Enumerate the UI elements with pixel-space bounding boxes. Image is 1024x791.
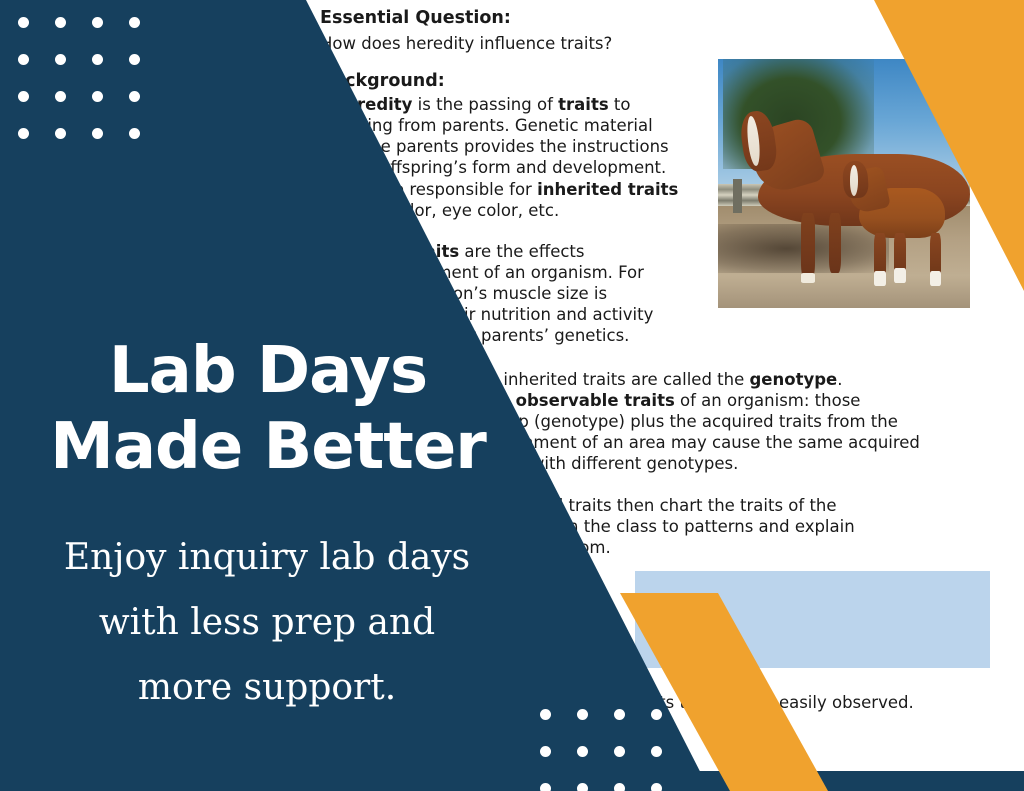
dot [577, 746, 588, 757]
dot [651, 783, 662, 791]
dot [540, 783, 551, 791]
dot [129, 128, 140, 139]
promotional-graphic: Essential Question: How does heredity in… [0, 0, 1024, 791]
dot [18, 91, 29, 102]
essential-question-heading: Essential Question: [320, 8, 511, 29]
dot-pattern-top-left [18, 17, 166, 165]
dot [92, 128, 103, 139]
promo-headline: Lab Days Made Better [0, 333, 536, 485]
dot [614, 783, 625, 791]
dot [55, 17, 66, 28]
dot [55, 91, 66, 102]
dot [92, 54, 103, 65]
dot [92, 91, 103, 102]
navy-bottom-bar [664, 771, 1024, 791]
photo-foal-blaze [850, 165, 859, 196]
dot [540, 709, 551, 720]
dot [55, 128, 66, 139]
dot [18, 128, 29, 139]
dot [577, 709, 588, 720]
dot [614, 746, 625, 757]
background-line-1: Heredity is the passing of traits to [332, 94, 630, 115]
headline-line-1: Lab Days [0, 333, 536, 409]
photo-mare-hoof [801, 273, 815, 283]
dot-pattern-bottom [540, 709, 688, 791]
subhead-line-2: with less prep and [0, 590, 534, 655]
photo-foal-sock [930, 271, 941, 286]
dot [614, 709, 625, 720]
dot [540, 746, 551, 757]
dot [129, 54, 140, 65]
photo-mare-leg [801, 213, 815, 278]
promo-subheadline: Enjoy inquiry lab days with less prep an… [0, 525, 534, 720]
dot [55, 54, 66, 65]
subhead-line-1: Enjoy inquiry lab days [0, 525, 534, 590]
dot [651, 746, 662, 757]
essential-question-text: How does heredity influence traits? [320, 33, 612, 54]
headline-line-2: Made Better [0, 409, 536, 485]
photo-fence-post [733, 179, 742, 214]
subhead-line-3: more support. [0, 655, 534, 720]
dot [577, 783, 588, 791]
dot [129, 91, 140, 102]
dot [18, 17, 29, 28]
dot [129, 17, 140, 28]
dot [92, 17, 103, 28]
dot [651, 709, 662, 720]
dot [18, 54, 29, 65]
photo-mare-leg [829, 213, 842, 273]
photo-foal-sock [874, 271, 885, 286]
photo-foal-sock [894, 268, 905, 283]
